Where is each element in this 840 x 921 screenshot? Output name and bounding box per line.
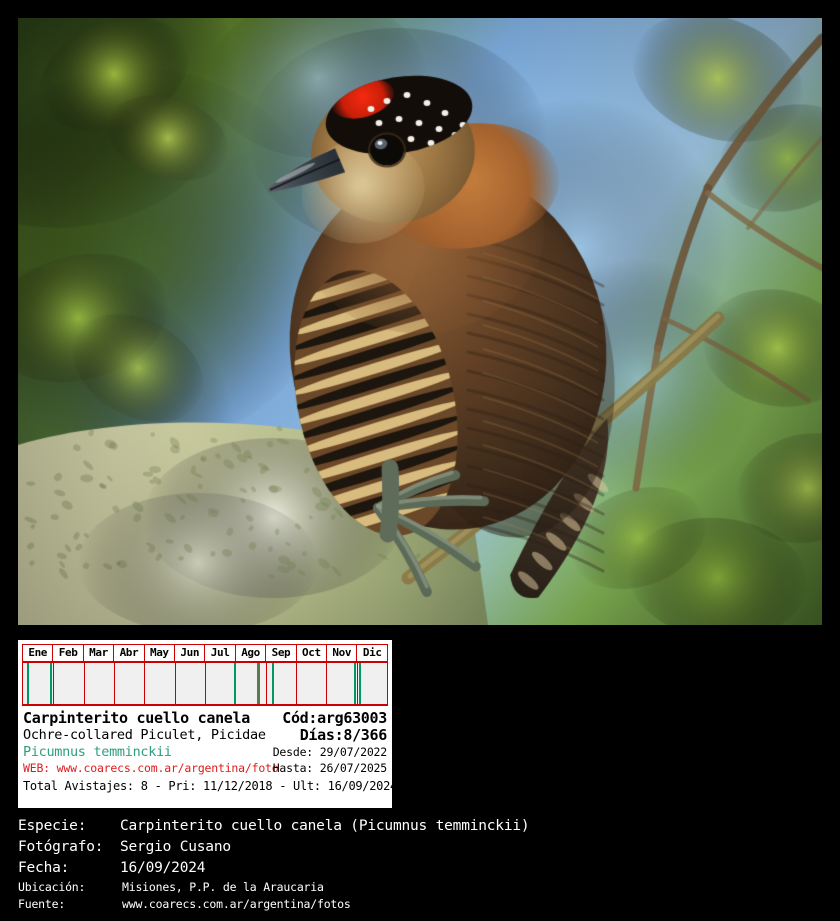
month-cell-dic: Dic xyxy=(357,645,388,662)
observation-tick xyxy=(354,663,356,704)
metadata-block: Especie: Carpinterito cuello canela (Pic… xyxy=(18,816,822,913)
month-separator xyxy=(357,663,358,704)
species-info-card: Ene Feb Mar Abr May Jun Jul Ago Sep Oct … xyxy=(18,640,392,808)
date-to-label: Hasta: 26/07/2025 xyxy=(273,761,387,775)
month-cell-mar: Mar xyxy=(83,645,113,662)
observation-tick xyxy=(359,663,361,704)
species-code-label: Cód:arg63003 xyxy=(282,709,387,727)
observation-tick xyxy=(234,663,236,704)
month-separator xyxy=(114,663,115,704)
english-name-label: Ochre-collared Piculet, Picidae xyxy=(23,727,266,743)
month-separator xyxy=(296,663,297,704)
month-separator xyxy=(266,663,267,704)
month-cell-ago: Ago xyxy=(235,645,265,662)
month-cell-nov: Nov xyxy=(327,645,357,662)
meta-value-fotografo: Sergio Cusano xyxy=(120,837,822,858)
month-separator xyxy=(84,663,85,704)
meta-row-fotografo: Fotógrafo: Sergio Cusano xyxy=(18,837,822,858)
card-text-block: Carpinterito cuello canela Cód:arg63003 … xyxy=(23,709,387,809)
month-cell-ene: Ene xyxy=(23,645,53,662)
scientific-name-label: Picumnus temminckii xyxy=(23,744,172,760)
photo-panel xyxy=(18,18,822,625)
days-count-label: Días:8/366 xyxy=(300,726,387,744)
meta-row-ubicacion: Ubicación: Misiones, P.P. de la Araucari… xyxy=(18,879,822,896)
meta-label-ubicacion: Ubicación: xyxy=(18,879,122,896)
month-separator xyxy=(144,663,145,704)
meta-value-fuente[interactable]: www.coarecs.com.ar/argentina/fotos xyxy=(122,896,822,913)
meta-label-fotografo: Fotógrafo: xyxy=(18,837,120,858)
meta-row-especie: Especie: Carpinterito cuello canela (Pic… xyxy=(18,816,822,837)
date-from-label: Desde: 29/07/2022 xyxy=(273,745,387,759)
calendar-month-header: Ene Feb Mar Abr May Jun Jul Ago Sep Oct … xyxy=(22,644,388,662)
meta-row-fecha: Fecha: 16/09/2024 xyxy=(18,858,822,879)
calendar-tick-bar xyxy=(22,662,388,706)
meta-value-ubicacion: Misiones, P.P. de la Araucaria xyxy=(122,879,822,896)
month-cell-may: May xyxy=(144,645,174,662)
month-separator xyxy=(326,663,327,704)
meta-value-fecha: 16/09/2024 xyxy=(120,858,822,879)
meta-label-fuente: Fuente: xyxy=(18,896,122,913)
meta-label-especie: Especie: xyxy=(18,816,120,837)
meta-label-fecha: Fecha: xyxy=(18,858,120,879)
meta-row-fuente: Fuente: www.coarecs.com.ar/argentina/fot… xyxy=(18,896,822,913)
observation-tick xyxy=(50,663,52,704)
month-cell-jun: Jun xyxy=(175,645,205,662)
observation-tick xyxy=(27,663,29,704)
month-separator xyxy=(175,663,176,704)
month-cell-abr: Abr xyxy=(114,645,144,662)
observation-tick xyxy=(272,663,274,704)
month-cell-oct: Oct xyxy=(296,645,326,662)
meta-value-especie: Carpinterito cuello canela (Picumnus tem… xyxy=(120,816,822,837)
month-separator xyxy=(53,663,54,704)
total-sightings-label: Total Avistajes: 8 - Pri: 11/12/2018 - U… xyxy=(23,779,397,793)
observation-tick xyxy=(257,663,260,704)
calendar-header-row: Ene Feb Mar Abr May Jun Jul Ago Sep Oct … xyxy=(23,645,388,662)
common-name-label: Carpinterito cuello canela xyxy=(23,709,250,727)
month-separator xyxy=(205,663,206,704)
sightings-calendar: Ene Feb Mar Abr May Jun Jul Ago Sep Oct … xyxy=(22,644,388,706)
month-cell-feb: Feb xyxy=(53,645,83,662)
month-cell-jul: Jul xyxy=(205,645,235,662)
month-cell-sep: Sep xyxy=(266,645,296,662)
bird-photograph xyxy=(18,18,822,625)
website-link[interactable]: WEB: www.coarecs.com.ar/argentina/foto xyxy=(23,761,279,775)
